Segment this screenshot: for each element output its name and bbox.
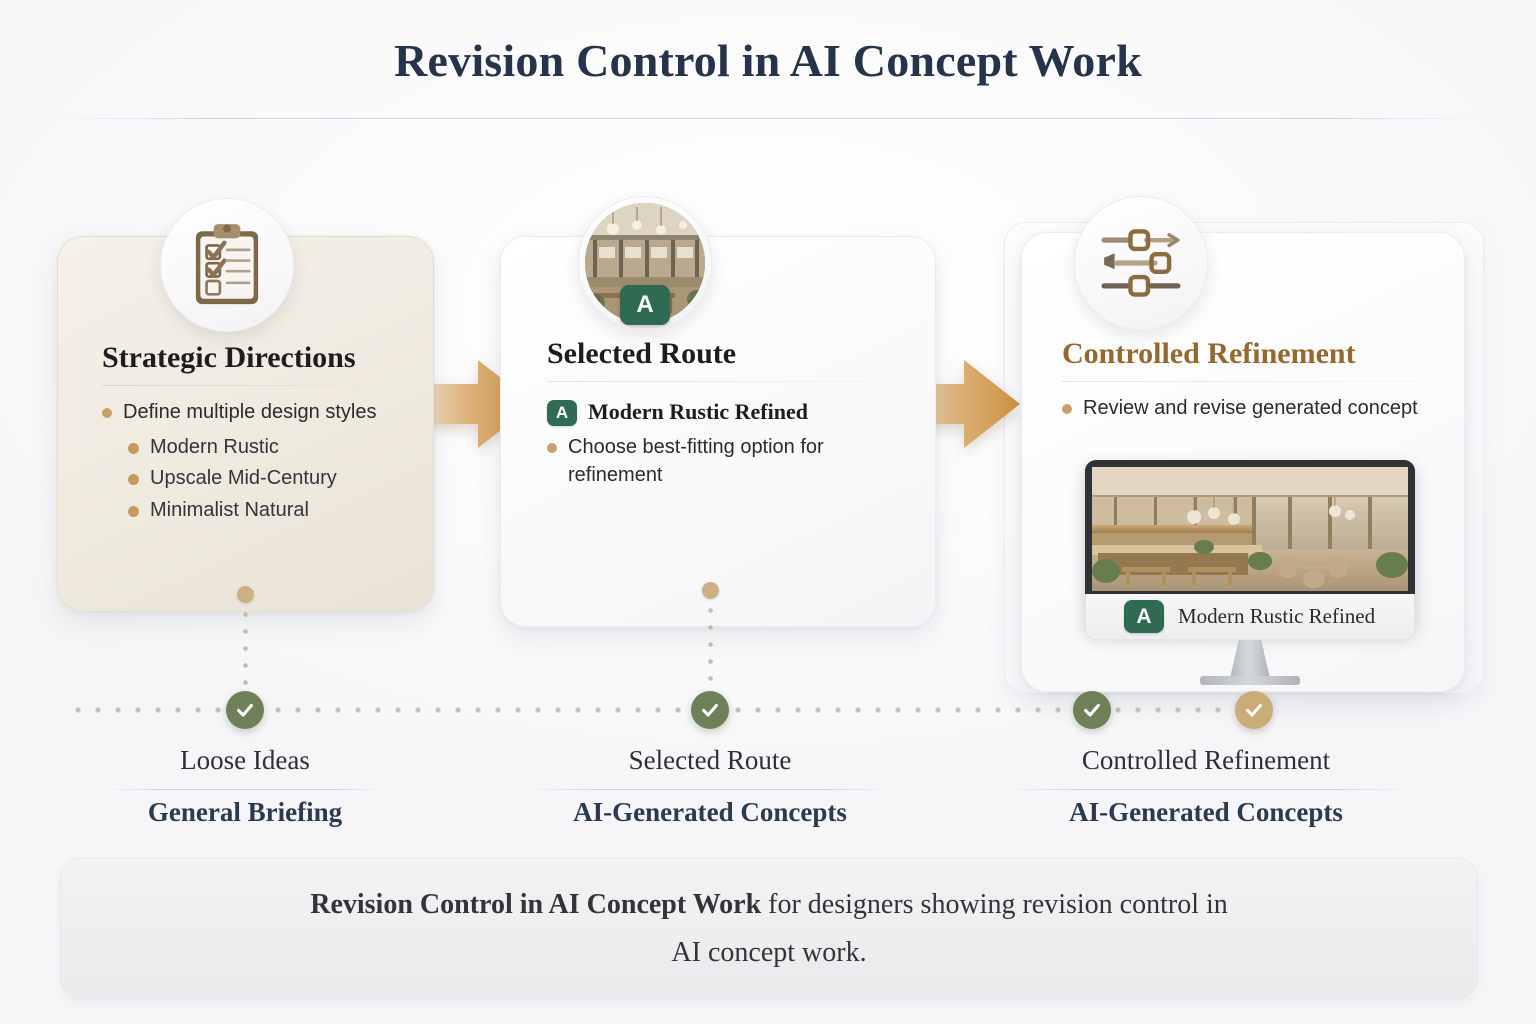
list-item: Define multiple design styles <box>102 399 376 427</box>
timeline-sublabel-2: AI-Generated Concepts <box>530 797 890 828</box>
timeline-label-1: Loose Ideas <box>85 745 405 776</box>
bullet-dot-icon <box>128 506 139 517</box>
list-item: Review and revise generated concept <box>1062 395 1418 423</box>
bullet-dot-icon <box>102 408 112 418</box>
timeline-node-4[interactable] <box>1235 691 1273 729</box>
check-icon <box>234 699 256 721</box>
timeline-node-1[interactable] <box>226 691 264 729</box>
list-item: A Modern Rustic Refined <box>547 397 857 427</box>
bullet-dot-icon <box>128 443 139 454</box>
card-1-divider <box>102 385 402 386</box>
timeline-label-2: Selected Route <box>550 745 870 776</box>
timeline-label-divider-2 <box>528 789 892 790</box>
option-a-badge: A <box>547 400 577 426</box>
restaurant-interior-image <box>1092 467 1408 591</box>
sliders-settings-icon <box>1074 196 1208 330</box>
title-divider <box>46 118 1490 119</box>
card-1-heading: Strategic Directions <box>102 341 356 375</box>
card-3-bullet-list: Review and revise generated concept <box>1062 395 1418 430</box>
list-item-label: Minimalist Natural <box>150 497 309 525</box>
bullet-dot-icon <box>1062 404 1072 414</box>
timeline-sublabel-3: AI-Generated Concepts <box>1020 797 1392 828</box>
infographic-canvas: Revision Control in AI Concept Work <box>0 0 1536 1024</box>
monitor-stand-base <box>1200 676 1300 685</box>
connector-line-2 <box>708 602 713 698</box>
clipboard-checklist-icon <box>160 198 294 332</box>
footer-caption: Revision Control in AI Concept Work for … <box>299 881 1239 976</box>
monitor-screen <box>1092 467 1408 591</box>
connector-line-1 <box>243 606 248 698</box>
card-2-bullet-list: A Modern Rustic Refined Choose best-fitt… <box>547 397 857 497</box>
card-2-divider <box>547 381 897 382</box>
list-item-label: Modern Rustic <box>150 434 279 462</box>
card-3-divider <box>1062 381 1434 382</box>
list-item: Upscale Mid-Century <box>128 465 376 493</box>
footer-panel: Revision Control in AI Concept Work for … <box>60 858 1478 1000</box>
list-item: Choose best-fitting option for refinemen… <box>547 434 857 489</box>
timeline-label-divider-3 <box>1002 789 1410 790</box>
list-item-label: Upscale Mid-Century <box>150 465 337 493</box>
timeline-node-2[interactable] <box>691 691 729 729</box>
bullet-dot-icon <box>547 443 557 453</box>
monitor-caption-bar: A Modern Rustic Refined <box>1085 594 1415 640</box>
connector-dot-1 <box>237 586 254 603</box>
check-icon <box>1243 699 1265 721</box>
list-item: Modern Rustic <box>128 434 376 462</box>
list-item-label: Choose best-fitting option for refinemen… <box>568 434 857 489</box>
timeline-label-3: Controlled Refinement <box>1020 745 1392 776</box>
list-item-label: Review and revise generated concept <box>1083 395 1418 423</box>
option-a-badge: A <box>620 285 670 325</box>
card-2-heading: Selected Route <box>547 337 736 371</box>
connector-dot-2 <box>702 582 719 599</box>
footer-caption-bold: Revision Control in AI Concept Work <box>310 889 761 920</box>
card-1-bullet-list: Define multiple design styles Modern Rus… <box>102 399 376 528</box>
check-icon <box>1081 699 1103 721</box>
list-item-label: Modern Rustic Refined <box>588 397 808 427</box>
monitor-frame: A Modern Rustic Refined <box>1085 460 1415 632</box>
bullet-dot-icon <box>128 474 139 485</box>
check-icon <box>699 699 721 721</box>
list-item-label: Define multiple design styles <box>123 399 376 427</box>
monitor-preview[interactable]: A Modern Rustic Refined <box>1085 460 1415 632</box>
page-title: Revision Control in AI Concept Work <box>0 34 1536 87</box>
timeline-label-divider-1 <box>108 789 384 790</box>
timeline-node-3[interactable] <box>1073 691 1111 729</box>
card-selected-route[interactable]: Selected Route A Modern Rustic Refined C… <box>500 236 936 627</box>
list-item: Minimalist Natural <box>128 497 376 525</box>
timeline-sublabel-1: General Briefing <box>85 797 405 828</box>
card-3-heading: Controlled Refinement <box>1062 337 1356 371</box>
restaurant-photo-icon: A <box>578 196 712 330</box>
option-a-badge: A <box>1124 600 1164 633</box>
monitor-caption-label: Modern Rustic Refined <box>1178 604 1375 629</box>
